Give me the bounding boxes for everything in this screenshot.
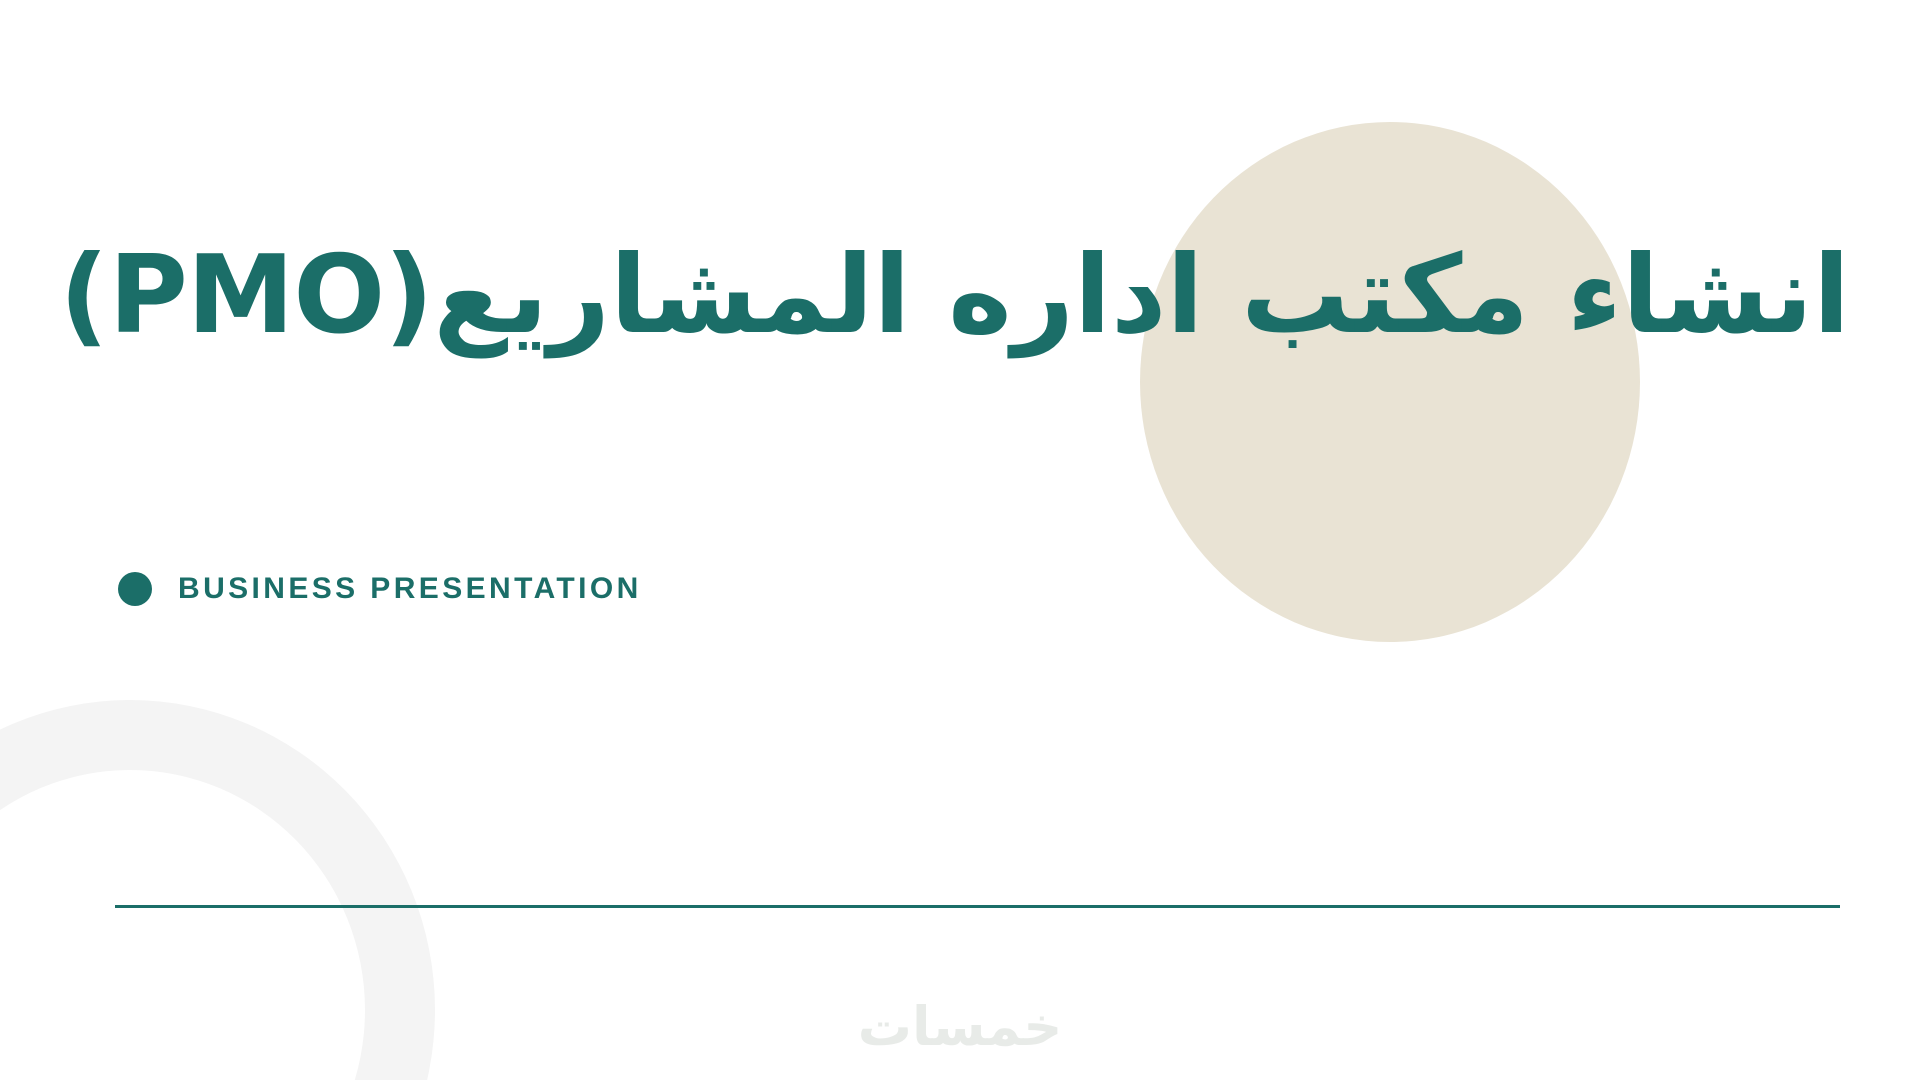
watermark: خمسات <box>0 995 1920 1058</box>
subtitle-row: BUSINESS PRESENTATION <box>118 572 642 606</box>
title-block: انشاء مكتب اداره المشاريع(PMO) <box>0 232 1850 359</box>
presentation-slide: انشاء مكتب اداره المشاريع(PMO) BUSINESS … <box>0 0 1920 1080</box>
subtitle-label: BUSINESS PRESENTATION <box>178 572 642 606</box>
watermark-text: خمسات <box>858 995 1063 1058</box>
beige-ellipse-decoration <box>1140 122 1640 642</box>
page-title: انشاء مكتب اداره المشاريع(PMO) <box>0 232 1850 359</box>
filled-circle-icon <box>118 572 152 606</box>
teal-horizontal-rule <box>115 905 1840 908</box>
